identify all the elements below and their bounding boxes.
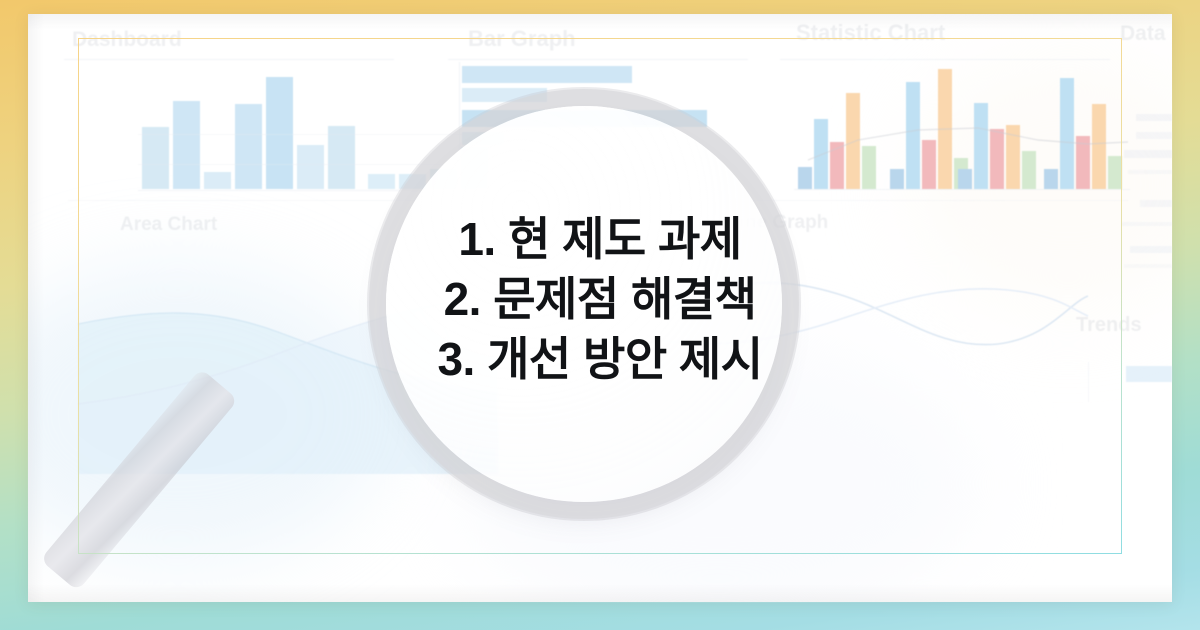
content-card: Dashboard Bar Graph Statistic Chart Data…: [28, 14, 1172, 602]
headline: 1. 현 제도 과제 2. 문제점 해결책 3. 개선 방안 제시: [28, 210, 1172, 389]
headline-line-2: 2. 문제점 해결책: [28, 270, 1172, 330]
ghost-rule-top-left: [64, 59, 394, 60]
ghost-title-data-overview: Data Overview: [1120, 22, 1172, 46]
ghost-title-statistic: Statistic Chart: [796, 20, 945, 46]
ghost-title-dashboard: Dashboard: [72, 28, 182, 52]
ghost-rule-top-right: [780, 59, 1110, 60]
ghost-trend-line: [788, 114, 1138, 174]
ghost-rule-mid: [68, 200, 1128, 201]
ghost-rule-top-mid: [448, 59, 748, 60]
ghost-title-bar-graph: Bar Graph: [468, 26, 576, 52]
thumbnail-frame: Dashboard Bar Graph Statistic Chart Data…: [0, 0, 1200, 630]
headline-line-3: 3. 개선 방안 제시: [28, 330, 1172, 390]
headline-line-1: 1. 현 제도 과제: [28, 210, 1172, 270]
